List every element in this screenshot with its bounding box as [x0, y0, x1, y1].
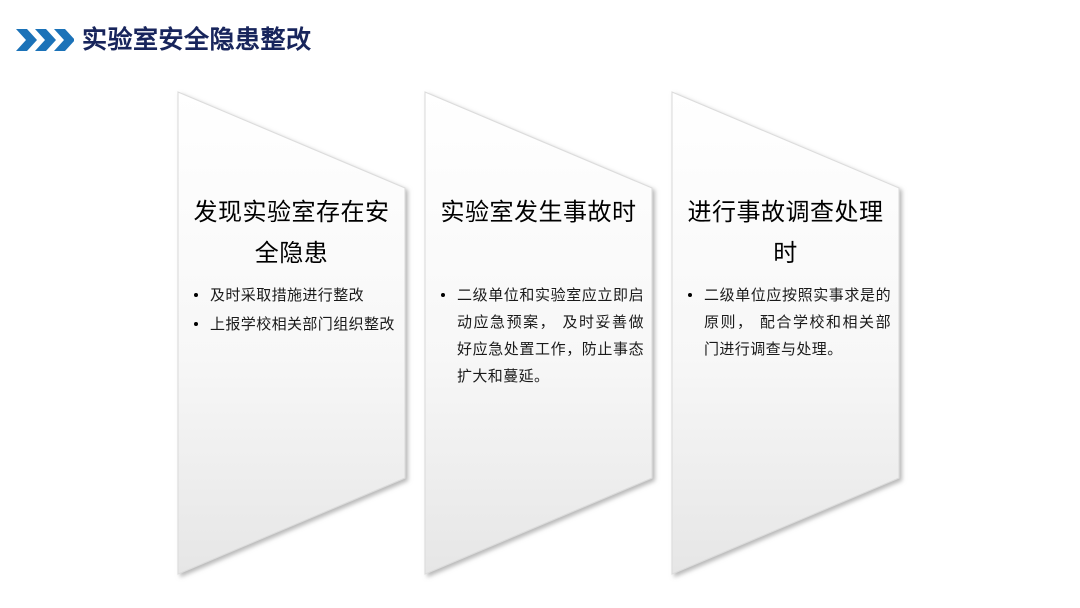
panel-group: 发现实验室存在安全隐患 及时采取措施进行整改 上报学校相关部门组织整改 [0, 0, 1080, 608]
panel-card-2[interactable]: 实验室发生事故时 二级单位和实验室应立即启动应急预案， 及时妥善做好应急处置工作… [425, 92, 652, 574]
panel-content-2: 实验室发生事故时 二级单位和实验室应立即启动应急预案， 及时妥善做好应急处置工作… [425, 92, 652, 574]
panel-title-1: 发现实验室存在安全隐患 [186, 192, 397, 274]
panel-content-3: 进行事故调查处理时 二级单位应按照实事求是的原则， 配合学校和相关部门进行调查与… [672, 92, 899, 574]
panel-bullet-list-3: 二级单位应按照实事求是的原则， 配合学校和相关部门进行调查与处理。 [686, 282, 891, 365]
list-item: 二级单位和实验室应立即启动应急预案， 及时妥善做好应急处置工作，防止事态扩大和蔓… [439, 282, 644, 390]
bullet-text: 二级单位应按照实事求是的原则， 配合学校和相关部门进行调查与处理。 [704, 286, 891, 358]
panel-title-2: 实验室发生事故时 [433, 192, 644, 233]
list-item: 二级单位应按照实事求是的原则， 配合学校和相关部门进行调查与处理。 [686, 282, 891, 363]
panel-bullet-list-1: 及时采取措施进行整改 上报学校相关部门组织整改 [192, 282, 397, 340]
bullet-dot-icon [194, 293, 198, 297]
list-item: 及时采取措施进行整改 [192, 282, 397, 309]
bullet-text: 及时采取措施进行整改 [210, 286, 364, 304]
bullet-dot-icon [688, 293, 692, 297]
panel-bullet-list-2: 二级单位和实验室应立即启动应急预案， 及时妥善做好应急处置工作，防止事态扩大和蔓… [439, 282, 644, 392]
bullet-dot-icon [441, 293, 445, 297]
panel-card-3[interactable]: 进行事故调查处理时 二级单位应按照实事求是的原则， 配合学校和相关部门进行调查与… [672, 92, 899, 574]
bullet-text: 二级单位和实验室应立即启动应急预案， 及时妥善做好应急处置工作，防止事态扩大和蔓… [457, 286, 644, 385]
bullet-dot-icon [194, 322, 198, 326]
panel-card-1[interactable]: 发现实验室存在安全隐患 及时采取措施进行整改 上报学校相关部门组织整改 [178, 92, 405, 574]
bullet-text: 上报学校相关部门组织整改 [210, 315, 395, 333]
panel-title-3: 进行事故调查处理时 [680, 192, 891, 274]
panel-content-1: 发现实验室存在安全隐患 及时采取措施进行整改 上报学校相关部门组织整改 [178, 92, 405, 574]
list-item: 上报学校相关部门组织整改 [192, 311, 397, 338]
